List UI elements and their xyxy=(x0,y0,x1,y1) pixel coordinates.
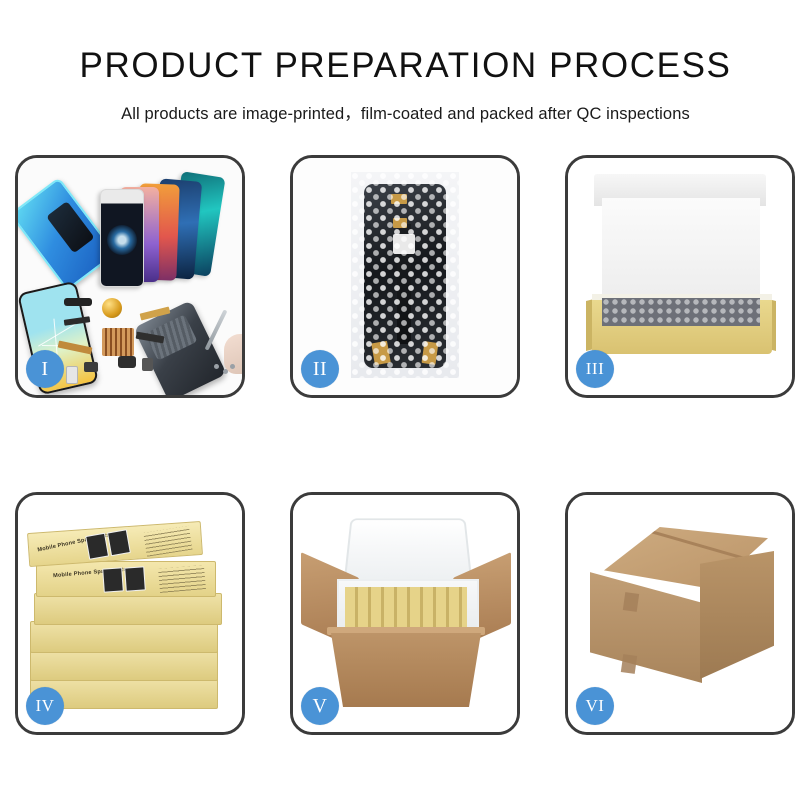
step-badge-4: IV xyxy=(26,687,64,725)
step-panel-1: I xyxy=(15,155,245,398)
speaker-part xyxy=(118,356,136,368)
carton-tape-1 xyxy=(623,592,639,612)
box-lid-inner xyxy=(602,198,760,302)
gold-boxes-inside xyxy=(345,587,467,631)
screws-group xyxy=(214,364,236,378)
carton-front-wall xyxy=(331,633,481,707)
step-badge-3: III xyxy=(576,350,614,388)
page-title: PRODUCT PREPARATION PROCESS xyxy=(0,48,811,83)
box-spec-lines-rear xyxy=(143,526,192,557)
gold-box-layer-4 xyxy=(34,593,222,625)
step-panel-6: VI xyxy=(565,492,795,735)
product-preparation-infographic: PRODUCT PREPARATION PROCESS All products… xyxy=(0,0,811,811)
step-panel-2: II xyxy=(290,155,520,398)
bubble-wrap-bag xyxy=(351,172,459,378)
logic-board-chip xyxy=(102,328,134,356)
gold-box-top-front: Mobile Phone Spare Parts xyxy=(36,561,216,597)
step-badge-1: I xyxy=(26,350,64,388)
carton-tape-2 xyxy=(621,654,637,674)
step-badge-2: II xyxy=(301,350,339,388)
carton-right-face xyxy=(700,551,774,679)
shipping-carton xyxy=(590,527,774,697)
vibration-motor-icon xyxy=(102,298,122,318)
box-spec-lines-front xyxy=(158,565,206,593)
gold-box-layer-3 xyxy=(30,621,218,653)
box-window-1 xyxy=(85,533,109,560)
box-window-4 xyxy=(124,566,146,591)
box-window-2 xyxy=(107,529,131,556)
phone-screen-front-glass xyxy=(100,189,144,287)
sim-tray-part xyxy=(66,366,78,384)
step-panel-4: Mobile Phone Spare Parts Mobile Phone Sp… xyxy=(15,492,245,735)
bubble-wrap-lining xyxy=(602,298,760,326)
step-badge-5: V xyxy=(301,687,339,725)
step-panel-3: III xyxy=(565,155,795,398)
button-part-1 xyxy=(84,362,98,372)
page-subtitle: All products are image-printed，film-coat… xyxy=(0,100,811,124)
phone-screen-fan xyxy=(100,174,242,286)
button-part-2 xyxy=(142,358,153,371)
step-panel-5: V xyxy=(290,492,520,735)
box-window-3 xyxy=(102,567,124,592)
camera-module-part xyxy=(64,298,92,306)
bubble-texture xyxy=(351,172,459,378)
header: PRODUCT PREPARATION PROCESS All products… xyxy=(0,0,811,124)
gold-box-layer-2 xyxy=(30,649,218,681)
gold-box-stack: Mobile Phone Spare Parts Mobile Phone Sp… xyxy=(30,509,230,721)
steps-grid: I II xyxy=(15,155,796,735)
step-badge-6: VI xyxy=(576,687,614,725)
